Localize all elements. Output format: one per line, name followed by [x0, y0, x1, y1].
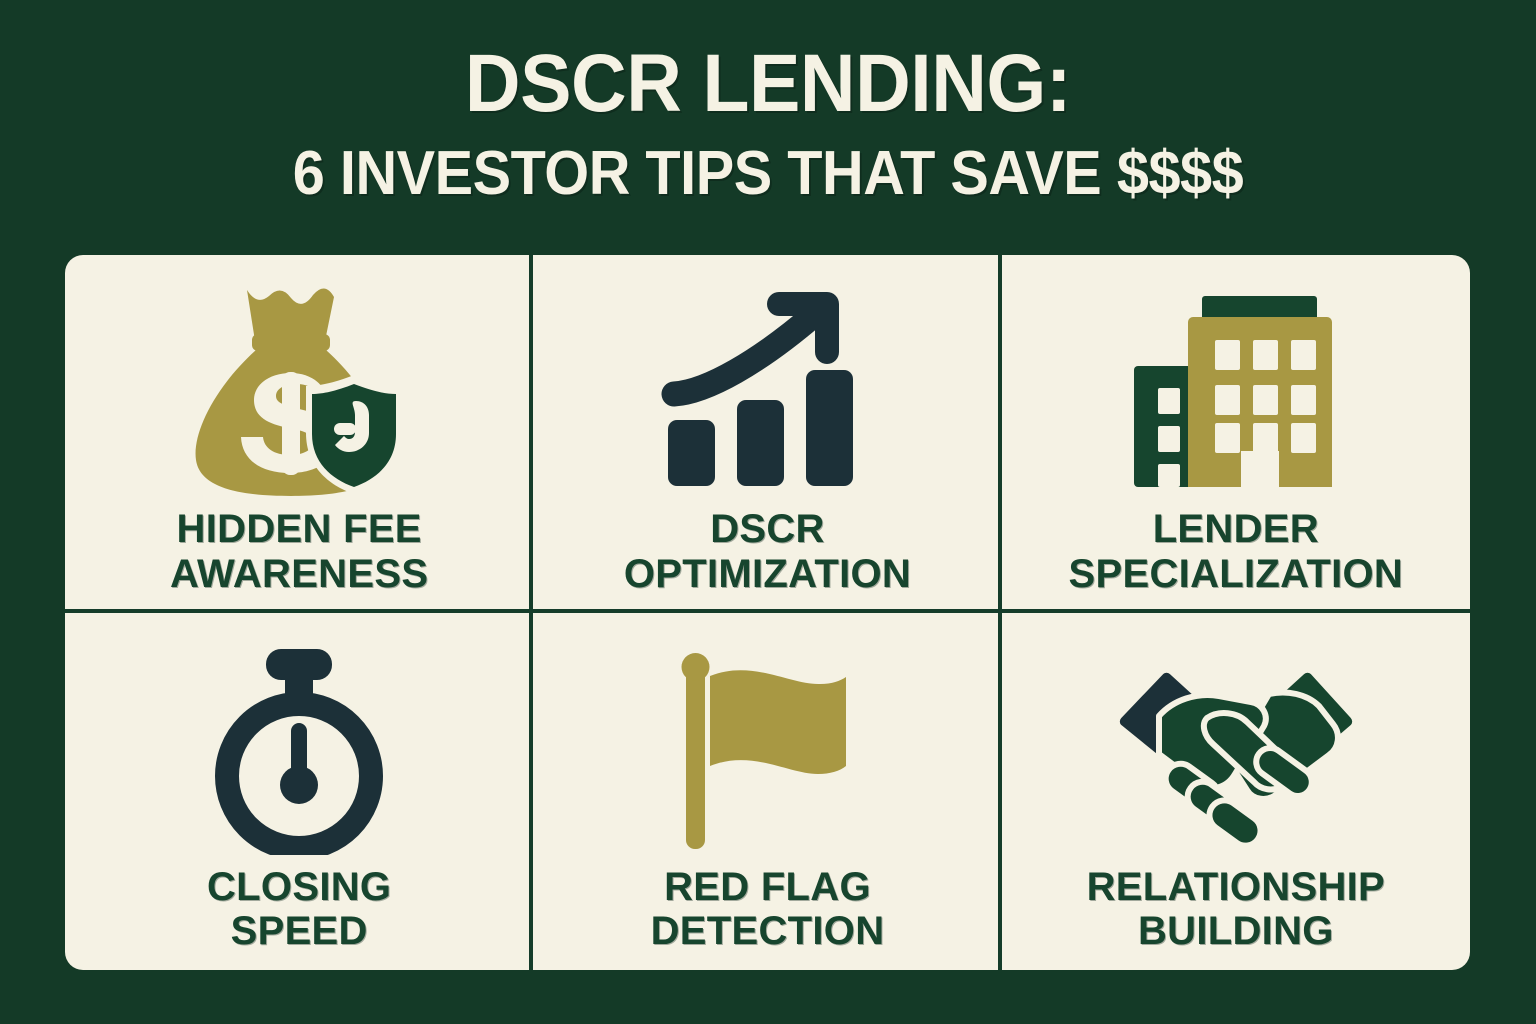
- grid-cell-dscr-optimization[interactable]: DSCR OPTIMIZATION: [533, 255, 1001, 613]
- stopwatch-icon: [79, 639, 519, 859]
- grid-cell-hidden-fee-awareness[interactable]: HIDDEN FEE AWARENESS: [65, 255, 533, 613]
- cell-label: DSCR OPTIMIZATION: [624, 507, 911, 597]
- page-title: DSCR LENDING:: [46, 44, 1490, 124]
- cell-label: LENDER SPECIALIZATION: [1069, 507, 1404, 597]
- page-subtitle: 6 INVESTOR TIPS THAT SAVE $$$$: [54, 142, 1482, 205]
- cell-label: RED FLAG DETECTION: [651, 865, 885, 955]
- grid-cell-relationship-building[interactable]: RELATIONSHIP BUILDING: [1002, 613, 1470, 971]
- handshake-icon: [1016, 639, 1456, 859]
- growth-bar-chart-icon: [547, 281, 987, 501]
- grid-cell-red-flag-detection[interactable]: RED FLAG DETECTION: [533, 613, 1001, 971]
- infographic-poster: DSCR LENDING: 6 INVESTOR TIPS THAT SAVE …: [0, 0, 1536, 1024]
- title-block: DSCR LENDING: 6 INVESTOR TIPS THAT SAVE …: [0, 44, 1536, 206]
- tips-grid-card: HIDDEN FEE AWARENESS: [65, 255, 1470, 970]
- cell-label: HIDDEN FEE AWARENESS: [170, 507, 428, 597]
- money-bag-shield-icon: [79, 281, 519, 501]
- grid-cell-lender-specialization[interactable]: LENDER SPECIALIZATION: [1002, 255, 1470, 613]
- flag-icon: [547, 639, 987, 859]
- cell-label: CLOSING SPEED: [207, 865, 391, 955]
- grid-cell-closing-speed[interactable]: CLOSING SPEED: [65, 613, 533, 971]
- office-building-icon: [1016, 281, 1456, 501]
- cell-label: RELATIONSHIP BUILDING: [1087, 865, 1385, 955]
